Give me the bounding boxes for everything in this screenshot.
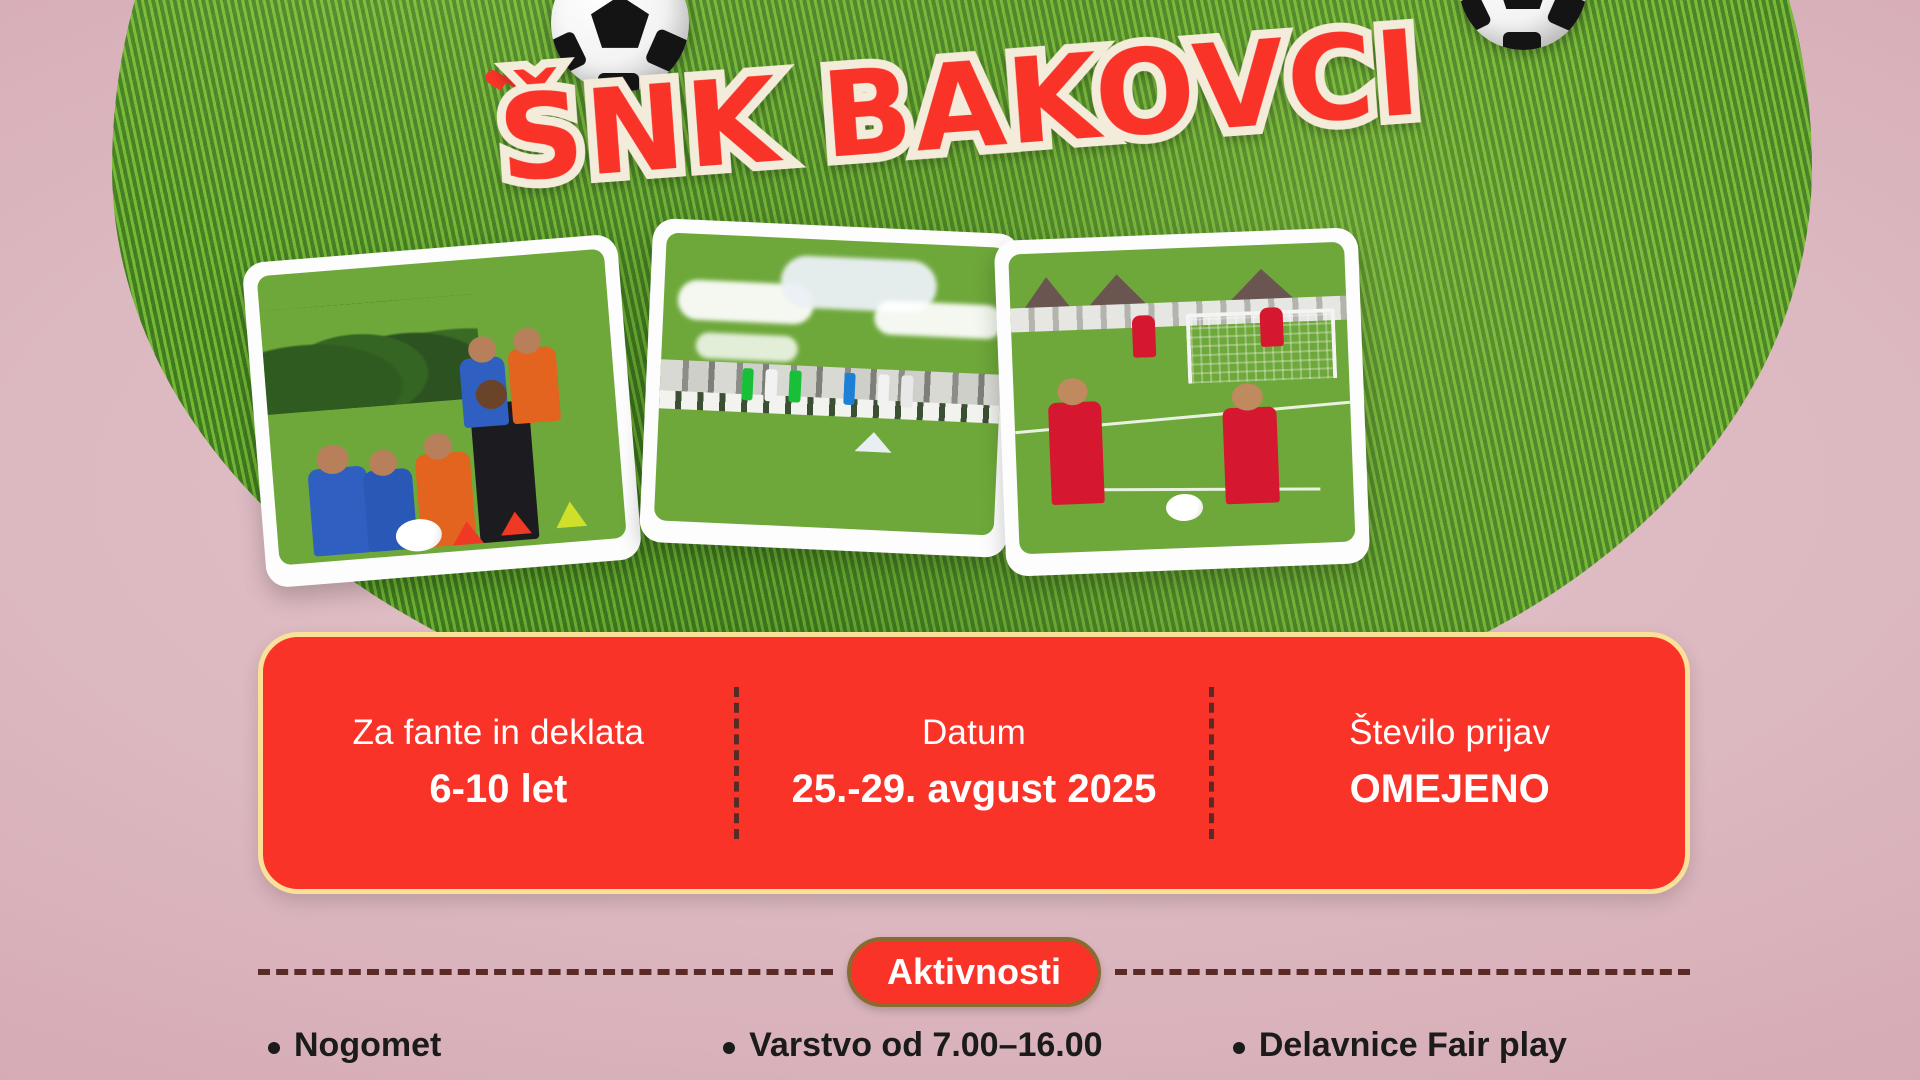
photo-training-session-image: [257, 249, 627, 566]
list-item: Delavnice Fair play: [1233, 1026, 1688, 1065]
poster-root: ŠNK BAKOVCI: [0, 0, 1920, 1080]
bullet-icon: [1233, 1042, 1245, 1054]
info-bar: Za fante in deklata 6-10 let Datum 25.-2…: [258, 632, 1690, 894]
info-column-age: Za fante in deklata 6-10 let: [263, 713, 734, 814]
bullet-icon: [723, 1042, 735, 1054]
activities-list: Nogomet Varstvo od 7.00–16.00 Delavnice …: [268, 1026, 1688, 1080]
photo-match-red-kits: [994, 227, 1371, 577]
info-label-registrations: Število prijav: [1230, 713, 1669, 753]
list-item: Varstvo od 7.00–16.00: [723, 1026, 1233, 1065]
info-column-registrations: Število prijav OMEJENO: [1214, 713, 1685, 814]
list-item: Nogomet: [268, 1026, 723, 1065]
info-label-date: Datum: [755, 713, 1194, 753]
photo-pitch-sky-image: [654, 232, 1007, 535]
activity-label: Nogomet: [294, 1026, 441, 1065]
activity-label: Varstvo od 7.00–16.00: [749, 1026, 1102, 1065]
info-label-age: Za fante in deklata: [279, 713, 718, 753]
dashed-rule-left: [258, 969, 833, 975]
photo-pitch-sky: [639, 218, 1021, 558]
bullet-icon: [268, 1042, 280, 1054]
activities-badge: Aktivnosti: [847, 937, 1101, 1007]
dashed-rule-right: [1115, 969, 1690, 975]
info-value-registrations: OMEJENO: [1230, 765, 1669, 814]
info-column-date: Datum 25.-29. avgust 2025: [739, 713, 1210, 814]
info-value-date: 25.-29. avgust 2025: [755, 765, 1194, 814]
photo-training-session: [242, 233, 643, 588]
activity-label: Delavnice Fair play: [1259, 1026, 1567, 1065]
photo-gallery: [0, 224, 1920, 594]
info-value-age: 6-10 let: [279, 765, 718, 814]
photo-match-red-kits-image: [1008, 242, 1355, 555]
activities-heading-row: Aktivnosti: [258, 936, 1690, 1008]
